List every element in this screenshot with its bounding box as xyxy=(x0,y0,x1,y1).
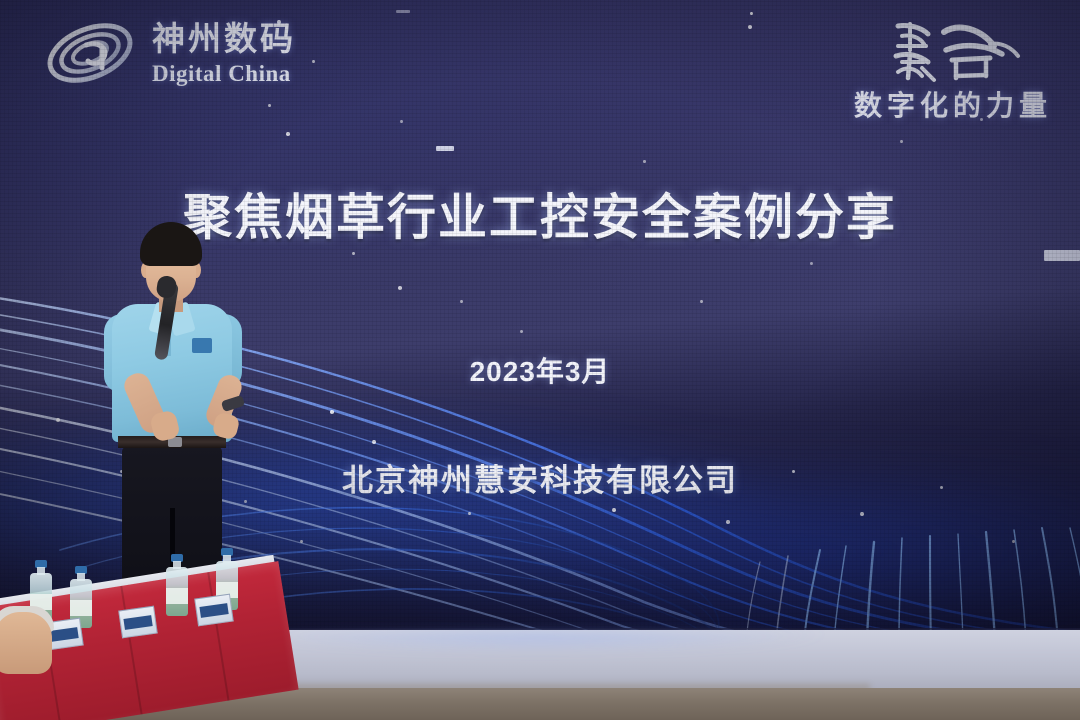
name-card xyxy=(194,594,234,627)
digital-china-logo: 神州数码 Digital China xyxy=(42,18,296,88)
shirt-chest-logo-icon xyxy=(192,338,212,353)
name-card-text xyxy=(123,615,152,630)
name-card xyxy=(118,606,158,639)
speaker-hair xyxy=(140,222,202,266)
particle xyxy=(643,160,646,163)
water-bottle xyxy=(166,554,188,616)
particle xyxy=(748,25,752,29)
audience-member xyxy=(0,612,52,674)
particle xyxy=(268,104,271,107)
juhe-calligraphy-icon xyxy=(886,16,1026,90)
light-artifact xyxy=(396,10,410,13)
conference-photo: 神州数码 Digital China xyxy=(0,0,1080,720)
particle xyxy=(286,132,290,136)
brand-name-en: Digital China xyxy=(152,62,296,85)
event-tagline: 数字化的力量 xyxy=(854,84,1052,124)
cloth-fold xyxy=(120,586,142,715)
particle xyxy=(750,12,753,15)
name-card-text xyxy=(199,603,228,618)
particle xyxy=(400,120,403,123)
bottle-label xyxy=(70,600,92,616)
name-card-text xyxy=(49,627,78,642)
particle xyxy=(312,60,315,63)
bottle-label xyxy=(166,588,188,604)
brand-name-cn: 神州数码 xyxy=(152,22,296,55)
digital-china-spiral-icon xyxy=(42,18,138,88)
particle xyxy=(900,140,903,143)
light-artifact xyxy=(436,146,454,151)
light-artifact xyxy=(1044,250,1080,261)
event-logo: 数字化的力量 xyxy=(854,16,1052,124)
